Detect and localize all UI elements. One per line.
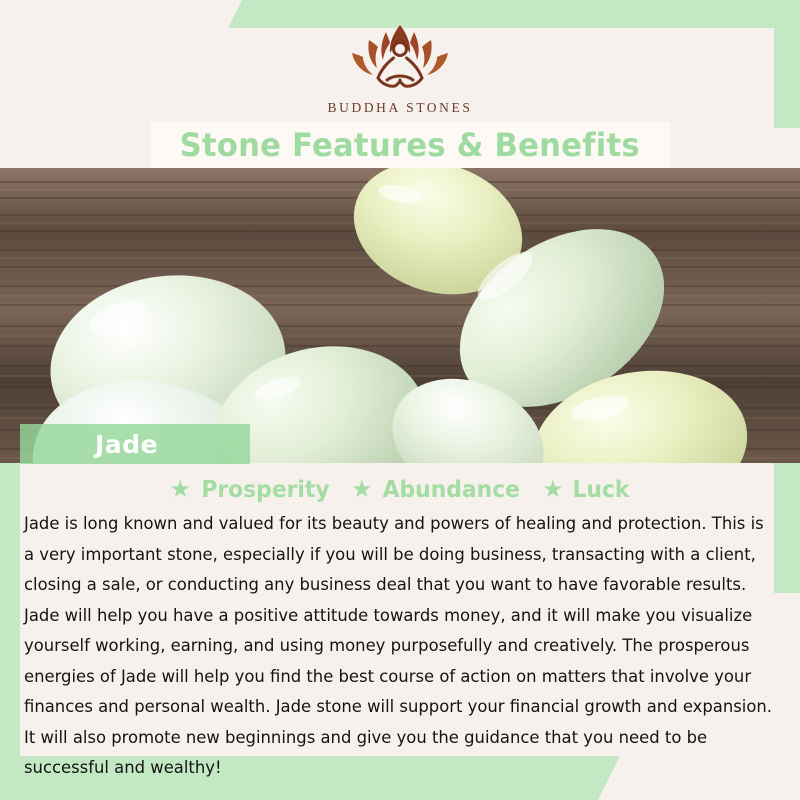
title-banner: Stone Features & Benefits [150,122,670,168]
stone-description: Jade is long known and valued for its be… [24,509,778,784]
photo-caption-band: Jade [20,424,250,464]
header: BUDDHA STONES Stone Features & Benefits [0,0,800,168]
stone-photo [0,168,800,463]
benefit-item: ★ Abundance [351,477,524,503]
benefit-item: ★ Prosperity [169,477,332,503]
stone-photo-illustration [0,168,800,463]
star-icon: ★ [169,478,191,502]
photo-caption-label: Jade [95,430,158,459]
page-title: Stone Features & Benefits [180,126,640,164]
brand-logo: BUDDHA STONES [0,18,800,116]
benefit-label: Luck [572,477,629,503]
benefit-item: ★ Luck [542,477,630,503]
star-icon: ★ [542,478,564,502]
poster-canvas: BUDDHA STONES Stone Features & Benefits [0,0,800,800]
benefit-label: Abundance [383,477,520,503]
benefit-label: Prosperity [201,477,329,503]
star-icon: ★ [351,478,373,502]
benefits-list: ★ Prosperity ★ Abundance ★ Luck [0,463,800,503]
content-area: ★ Prosperity ★ Abundance ★ Luck Jade is … [0,463,800,800]
brand-name: BUDDHA STONES [328,100,473,116]
lotus-meditation-icon [325,18,475,96]
